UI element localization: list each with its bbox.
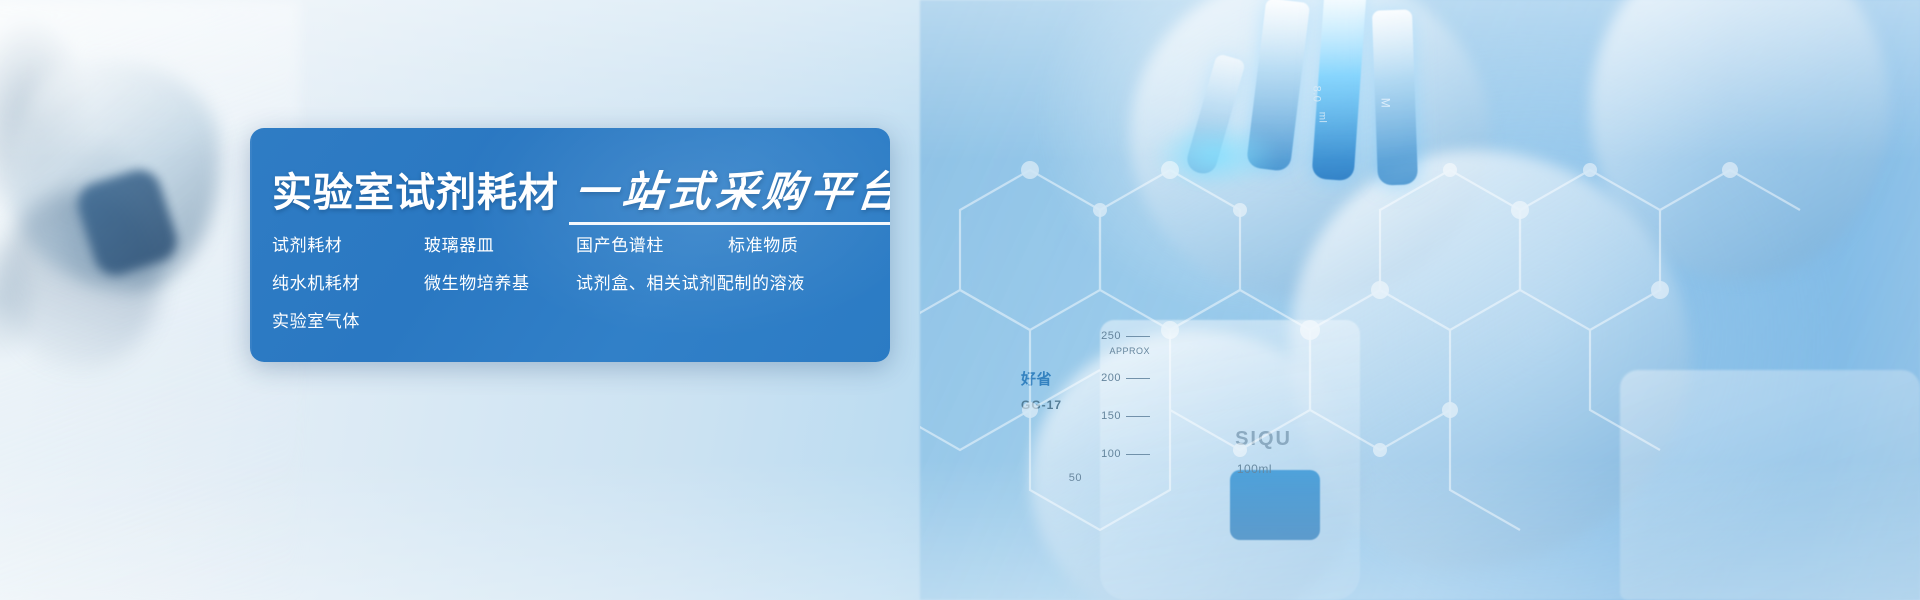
category-link-reference-material[interactable]: 标准物质 (728, 234, 798, 258)
category-link-list: 试剂耗材 玻璃器皿 国产色谱柱 标准物质 纯水机耗材 微生物培养基 试剂盒、相关… (272, 234, 876, 334)
promo-panel: 实验室试剂耗材 一站式采购平台 试剂耗材 玻璃器皿 国产色谱柱 标准物质 纯水机… (250, 128, 890, 362)
title-main-text: 实验室试剂耗材 (272, 170, 559, 216)
category-link-reagent-kits-solutions[interactable]: 试剂盒、相关试剂配制的溶液 (576, 272, 805, 296)
category-link-water-purifier-consumables[interactable]: 纯水机耗材 (272, 272, 424, 296)
title-underline (569, 222, 890, 225)
category-link-domestic-chromatography-column[interactable]: 国产色谱柱 (576, 234, 728, 258)
category-link-reagent-consumables[interactable]: 试剂耗材 (272, 234, 424, 258)
category-link-glassware[interactable]: 玻璃器皿 (424, 234, 576, 258)
category-link-microbial-culture-medium[interactable]: 微生物培养基 (424, 272, 576, 296)
category-row-3: 实验室气体 (272, 310, 876, 334)
lab-supply-banner: 250 APPROX 200 150 100 50 好省 GG-17 SIQU … (0, 0, 1920, 600)
category-row-2: 纯水机耗材 微生物培养基 试剂盒、相关试剂配制的溶液 (272, 272, 876, 296)
title-calligraphy-text: 一站式采购平台 (573, 170, 890, 216)
category-link-laboratory-gas[interactable]: 实验室气体 (272, 310, 424, 334)
panel-title: 实验室试剂耗材 一站式采购平台 (272, 154, 890, 216)
title-calligraphy-wrap: 一站式采购平台 (575, 170, 890, 216)
category-row-1: 试剂耗材 玻璃器皿 国产色谱柱 标准物质 (272, 234, 876, 258)
bottom-light-glow (0, 460, 1920, 600)
